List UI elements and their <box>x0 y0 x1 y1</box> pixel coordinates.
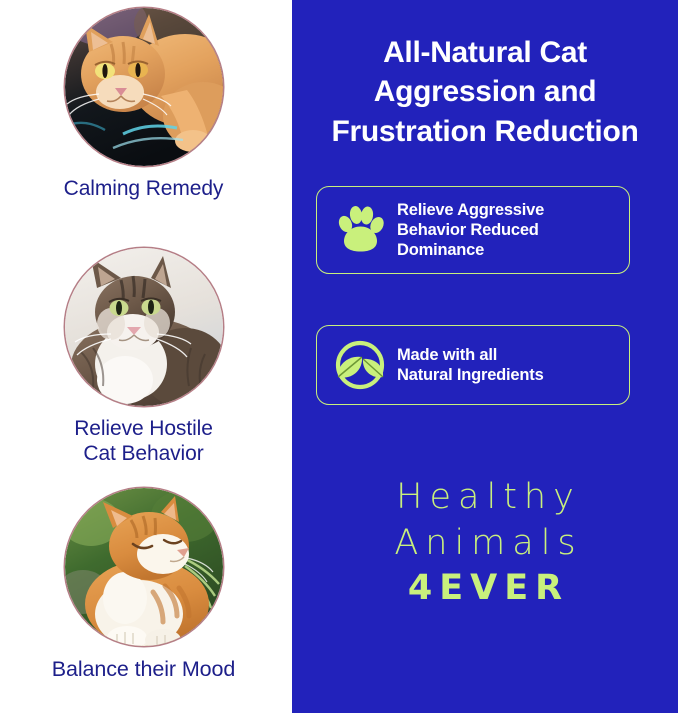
orange-white-cat-garden-photo <box>65 488 223 646</box>
leaf-circle-icon <box>329 334 391 396</box>
feature-item: Relieve Hostile Cat Behavior <box>0 248 287 467</box>
brand-line-4ever: 4EVER <box>292 566 678 612</box>
headline: All-Natural Cat Aggression and Frustrati… <box>292 33 678 151</box>
cat-photo-circle <box>65 488 223 646</box>
feature-item: Balance their Mood <box>0 488 287 682</box>
benefit-badge-natural: Made with all Natural Ingredients <box>316 325 630 405</box>
product-infographic: Calming Remedy <box>0 0 679 713</box>
brand-line-healthy: Healthy <box>292 474 678 520</box>
brand-line-animals: Animals <box>292 520 678 566</box>
features-column: Calming Remedy <box>0 0 287 713</box>
paw-print-icon <box>329 199 391 261</box>
badge-text: Relieve Aggressive Behavior Reduced Domi… <box>397 200 544 260</box>
feature-label: Calming Remedy <box>0 177 287 202</box>
cat-photo-circle <box>65 248 223 406</box>
promo-panel: All-Natural Cat Aggression and Frustrati… <box>292 0 678 713</box>
benefit-badge-aggression: Relieve Aggressive Behavior Reduced Domi… <box>316 186 630 274</box>
longhair-tabby-cat-photo <box>65 248 223 406</box>
cat-photo-circle <box>65 8 223 166</box>
feature-item: Calming Remedy <box>0 8 287 202</box>
brand-lockup: Healthy Animals 4EVER <box>292 474 678 612</box>
feature-label: Relieve Hostile Cat Behavior <box>0 417 287 467</box>
feature-label: Balance their Mood <box>0 657 287 682</box>
badge-text: Made with all Natural Ingredients <box>397 345 544 385</box>
orange-tabby-cat-photo <box>65 8 223 166</box>
